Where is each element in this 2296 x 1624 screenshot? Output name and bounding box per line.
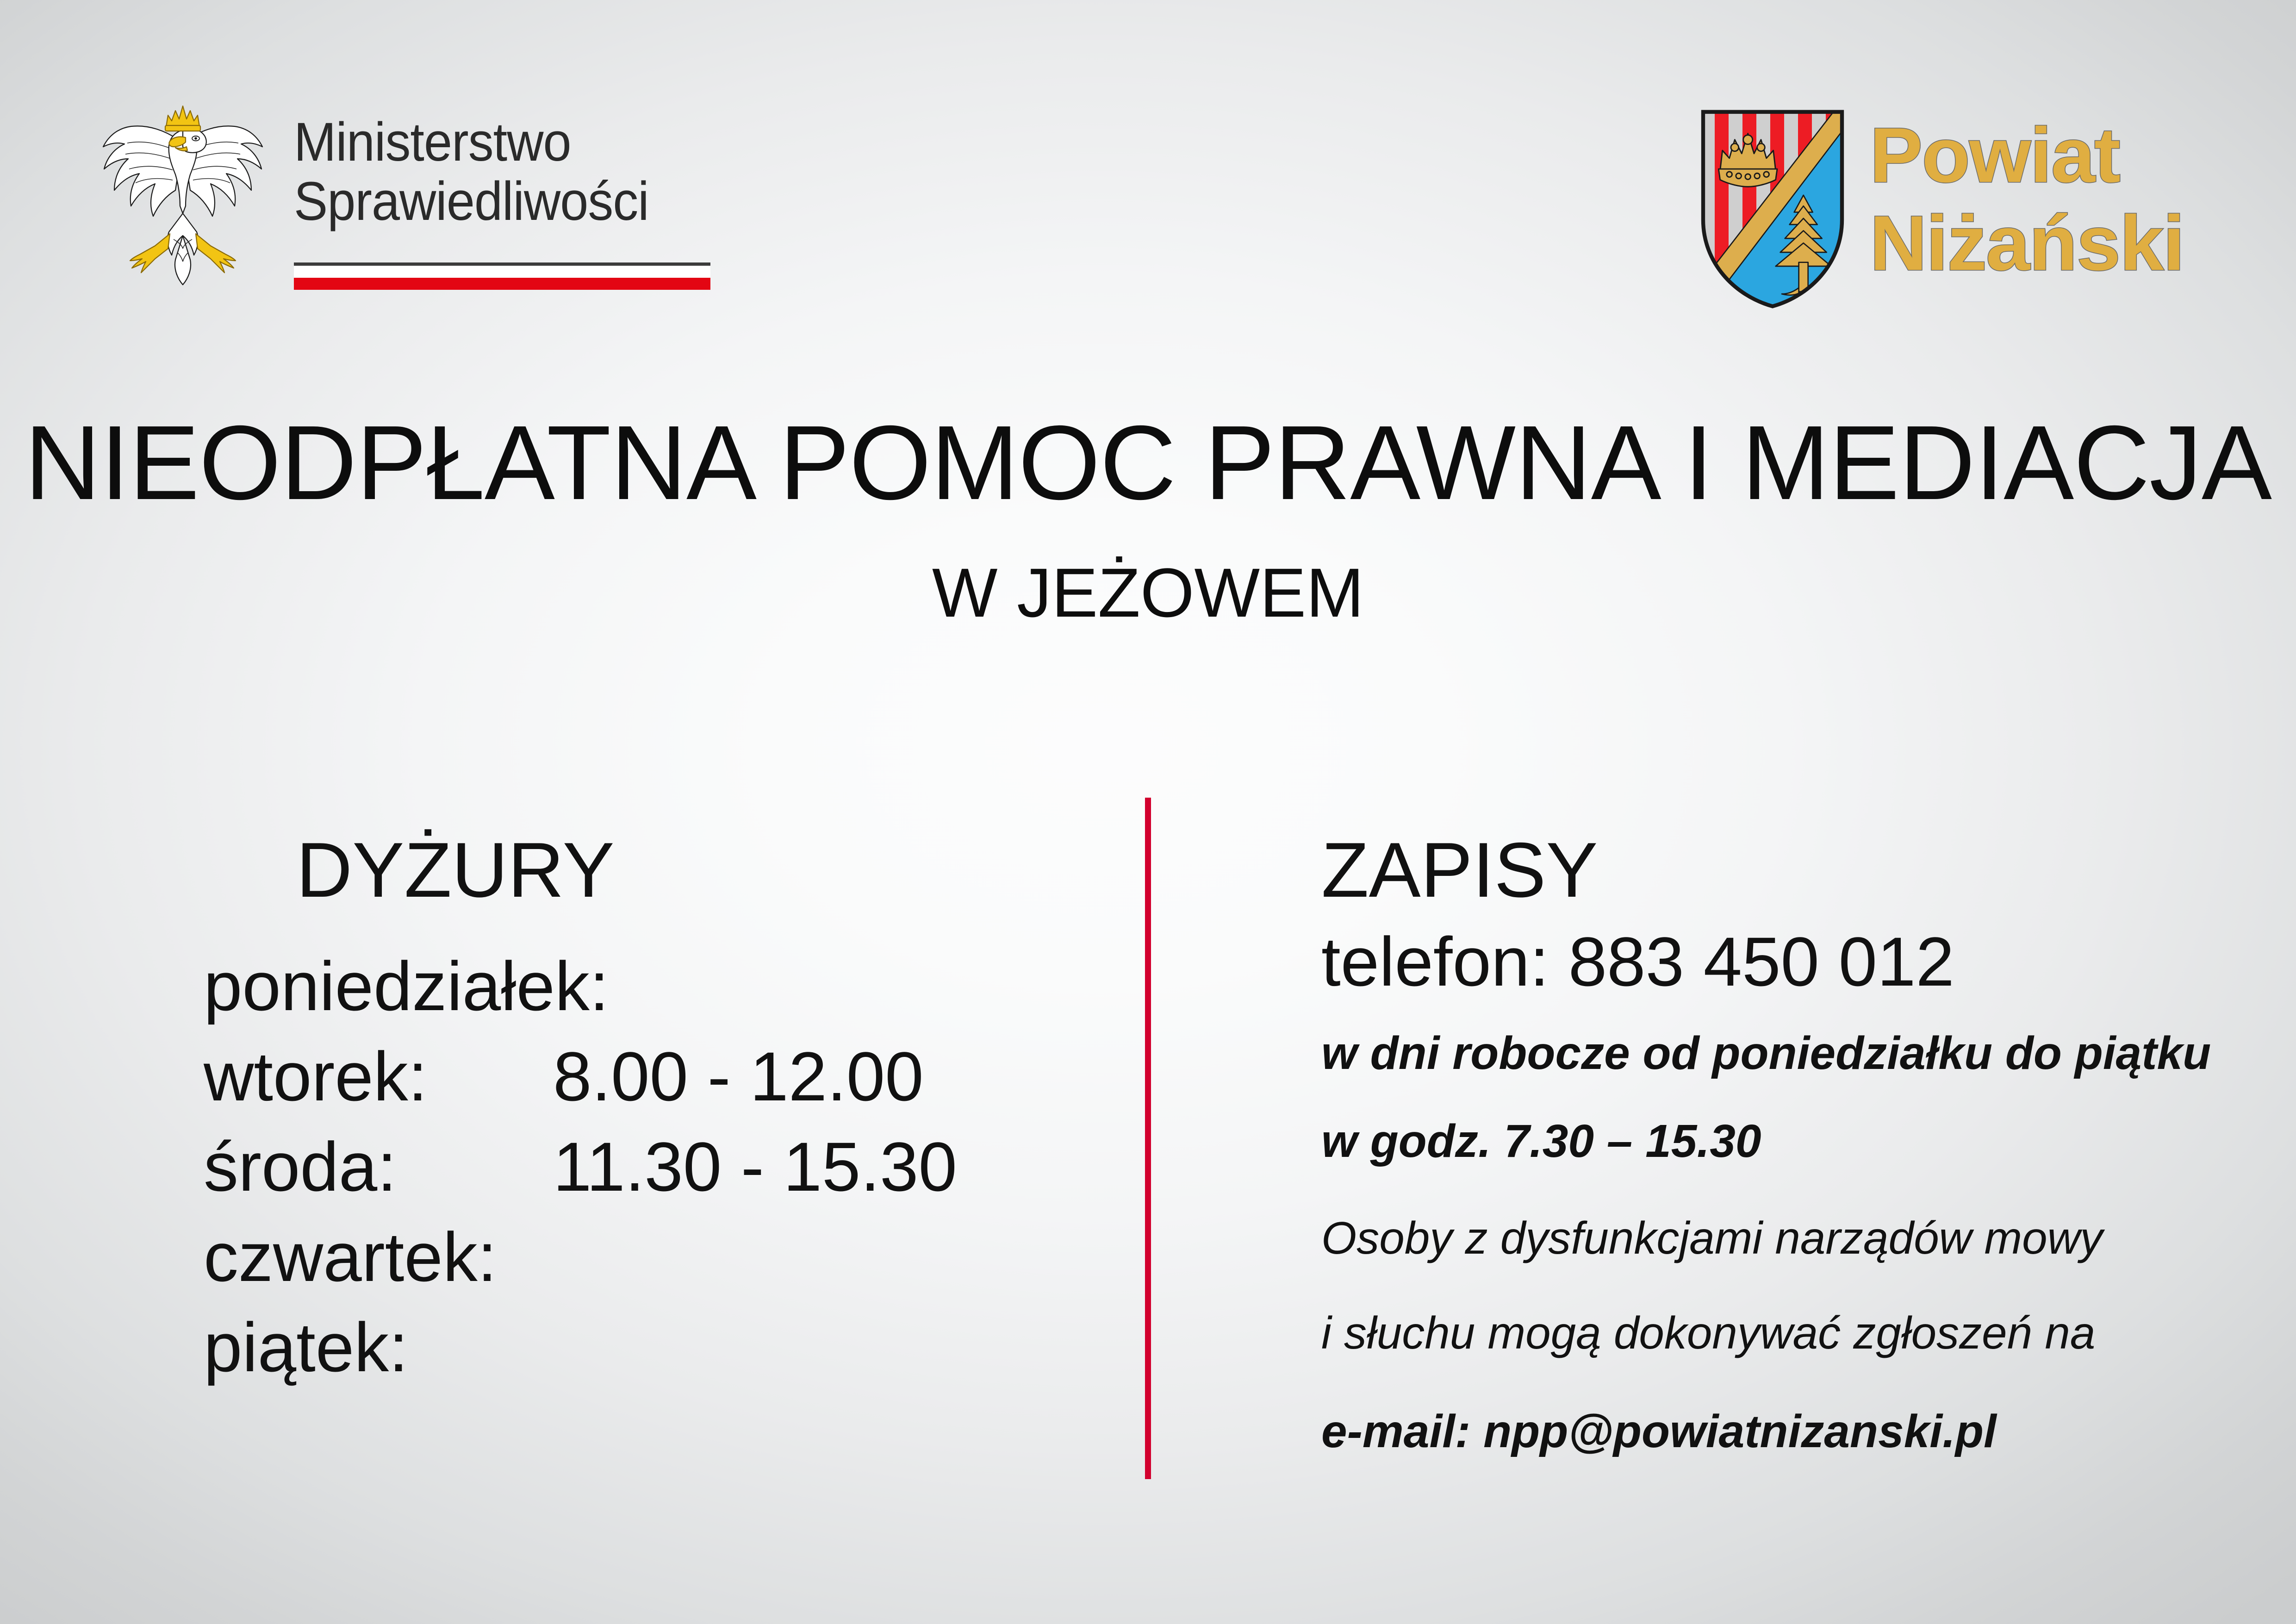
page-title: NIEODPŁATNA POMOC PRAWNA I MEDIACJA [0,407,2296,518]
duty-schedule-list: poniedziałek: wtorek: 8.00 - 12.00 środa… [204,947,1083,1398]
powiat-line-2: Niżański [1870,199,2247,287]
duty-day-label: wtorek: [204,1037,427,1116]
ministry-wordmark: Ministerstwo Sprawiedliwości [294,112,729,231]
duty-row: czwartek: [204,1218,1083,1308]
duty-heading: DYŻURY [296,829,615,911]
signup-email: e-mail: npp@powiatnizanski.pl [1321,1405,1997,1458]
duty-time-value: 11.30 - 15.30 [553,1127,957,1206]
poster-canvas: Ministerstwo Sprawiedliwości [0,0,2296,1624]
powiat-wordmark: Powiat Niżański [1870,111,2240,287]
polish-eagle-emblem [90,95,275,294]
duty-row: wtorek: 8.00 - 12.00 [204,1037,1083,1127]
powiat-logo: Powiat Niżański [1694,86,2245,317]
powiat-line-1: Powiat [1870,111,2247,199]
page-subtitle: W JEŻOWEM [0,556,2296,630]
duty-day-label: poniedziałek: [204,947,609,1025]
column-divider [1145,798,1151,1479]
duty-row: środa: 11.30 - 15.30 [204,1127,1083,1218]
signup-heading: ZAPISY [1321,829,1598,911]
polish-flag-bar [294,262,710,290]
ministry-line-2: Sprawiedliwości [294,172,698,231]
duty-row: poniedziałek: [204,947,1083,1037]
duty-day-label: czwartek: [204,1218,497,1296]
signup-phone-number: telefon: 883 450 012 [1321,924,1954,1000]
signup-note-workdays: w dni robocze od poniedziałku do piątku [1321,1028,2211,1079]
duty-day-label: piątek: [204,1308,408,1387]
ministry-logo: Ministerstwo Sprawiedliwości [90,90,738,303]
duty-row: piątek: [204,1308,1083,1398]
signup-note-hours: w godz. 7.30 – 15.30 [1321,1116,1761,1167]
powiat-nizanski-coat-of-arms [1694,104,1851,312]
duty-time-value: 8.00 - 12.00 [553,1037,924,1116]
signup-note-accessibility-line-1: Osoby z dysfunkcjami narządów mowy [1321,1213,2103,1263]
ministry-line-1: Ministerstwo [294,112,698,172]
duty-day-label: środa: [204,1127,397,1206]
signup-note-accessibility-line-2: i słuchu mogą dokonywać zgłoszeń na [1321,1308,2095,1358]
